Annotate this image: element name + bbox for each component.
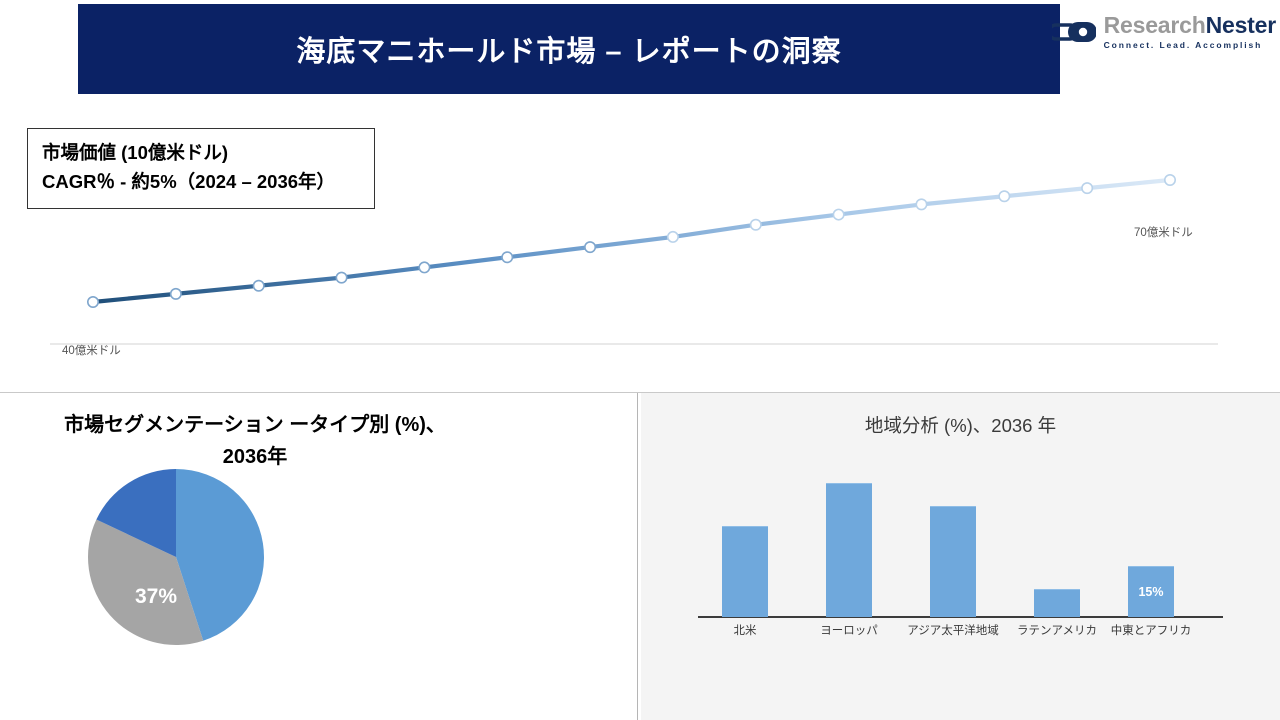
bar-value-label: 15%	[1128, 585, 1174, 599]
logo-tagline: Connect. Lead. Accomplish	[1104, 41, 1276, 50]
segmentation-title: 市場セグメンテーション ータイプ別 (%)、 2036年	[20, 409, 490, 473]
segmentation-title-line-2: 2036年	[223, 446, 288, 468]
line-chart-point	[88, 297, 98, 307]
line-chart-point	[1165, 175, 1175, 185]
line-chart-point	[668, 232, 678, 242]
segmentation-title-line-1: 市場セグメンテーション ータイプ別 (%)、	[64, 414, 446, 436]
report-infographic-page: 海底マニホールド市場 – レポートの洞察 ResearchNester Conn…	[0, 0, 1280, 720]
bar	[826, 483, 872, 617]
regional-category-labels: 北米ヨーロッパアジア太平洋地域ラテンアメリカ中東とアフリカ	[641, 622, 1280, 642]
bar-category-label: アジア太平洋地域	[907, 622, 999, 638]
segmentation-pie-chart: 37%	[86, 467, 286, 667]
line-chart-point	[171, 289, 181, 299]
logo-line: ResearchNester	[1104, 14, 1276, 37]
logo-word-nester: Nester	[1206, 12, 1276, 38]
line-chart-point	[336, 272, 346, 282]
line-chart-point	[999, 191, 1009, 201]
vertical-divider	[637, 393, 638, 720]
header-banner: 海底マニホールド市場 – レポートの洞察	[78, 4, 1060, 94]
logo-wordmark: ResearchNester Connect. Lead. Accomplish	[1104, 14, 1276, 50]
bar-category-label: 中東とアフリカ	[1111, 622, 1192, 638]
bar: 15%	[1128, 566, 1174, 617]
line-chart-point	[585, 242, 595, 252]
line-chart-point	[419, 262, 429, 272]
market-value-line-chart: 市場価値 (10億米ドル) CAGR％ - 約5%（2024 – 2036年） …	[0, 94, 1280, 392]
chain-link-icon	[1052, 17, 1096, 47]
brand-logo: ResearchNester Connect. Lead. Accomplish	[1052, 14, 1276, 50]
regional-analysis-panel: 地域分析 (%)、2036 年 15% 北米ヨーロッパアジア太平洋地域ラテンアメ…	[641, 393, 1280, 720]
segmentation-panel: 市場セグメンテーション ータイプ別 (%)、 2036年 37% パイプラインエ…	[0, 393, 637, 720]
bar-category-label: ヨーロッパ	[820, 622, 878, 638]
line-chart-point	[833, 209, 843, 219]
line-chart-point	[916, 199, 926, 209]
pie-slice-label: 37%	[135, 585, 177, 608]
bottom-section: 市場セグメンテーション ータイプ別 (%)、 2036年 37% パイプラインエ…	[0, 392, 1280, 720]
bar	[930, 506, 976, 617]
bar	[1034, 589, 1080, 617]
line-chart-point	[253, 281, 263, 291]
logo-word-research: Research	[1104, 12, 1206, 38]
page-title: 海底マニホールド市場 – レポートの洞察	[296, 28, 841, 70]
bar	[722, 526, 768, 617]
bar-category-label: ラテンアメリカ	[1017, 622, 1097, 638]
line-chart-point	[502, 252, 512, 262]
line-chart-point	[1082, 183, 1092, 193]
line-chart-plot	[0, 94, 1280, 392]
line-chart-point	[751, 220, 761, 230]
regional-bar-chart: 15%	[641, 393, 1280, 720]
bar-category-label: 北米	[734, 622, 757, 638]
